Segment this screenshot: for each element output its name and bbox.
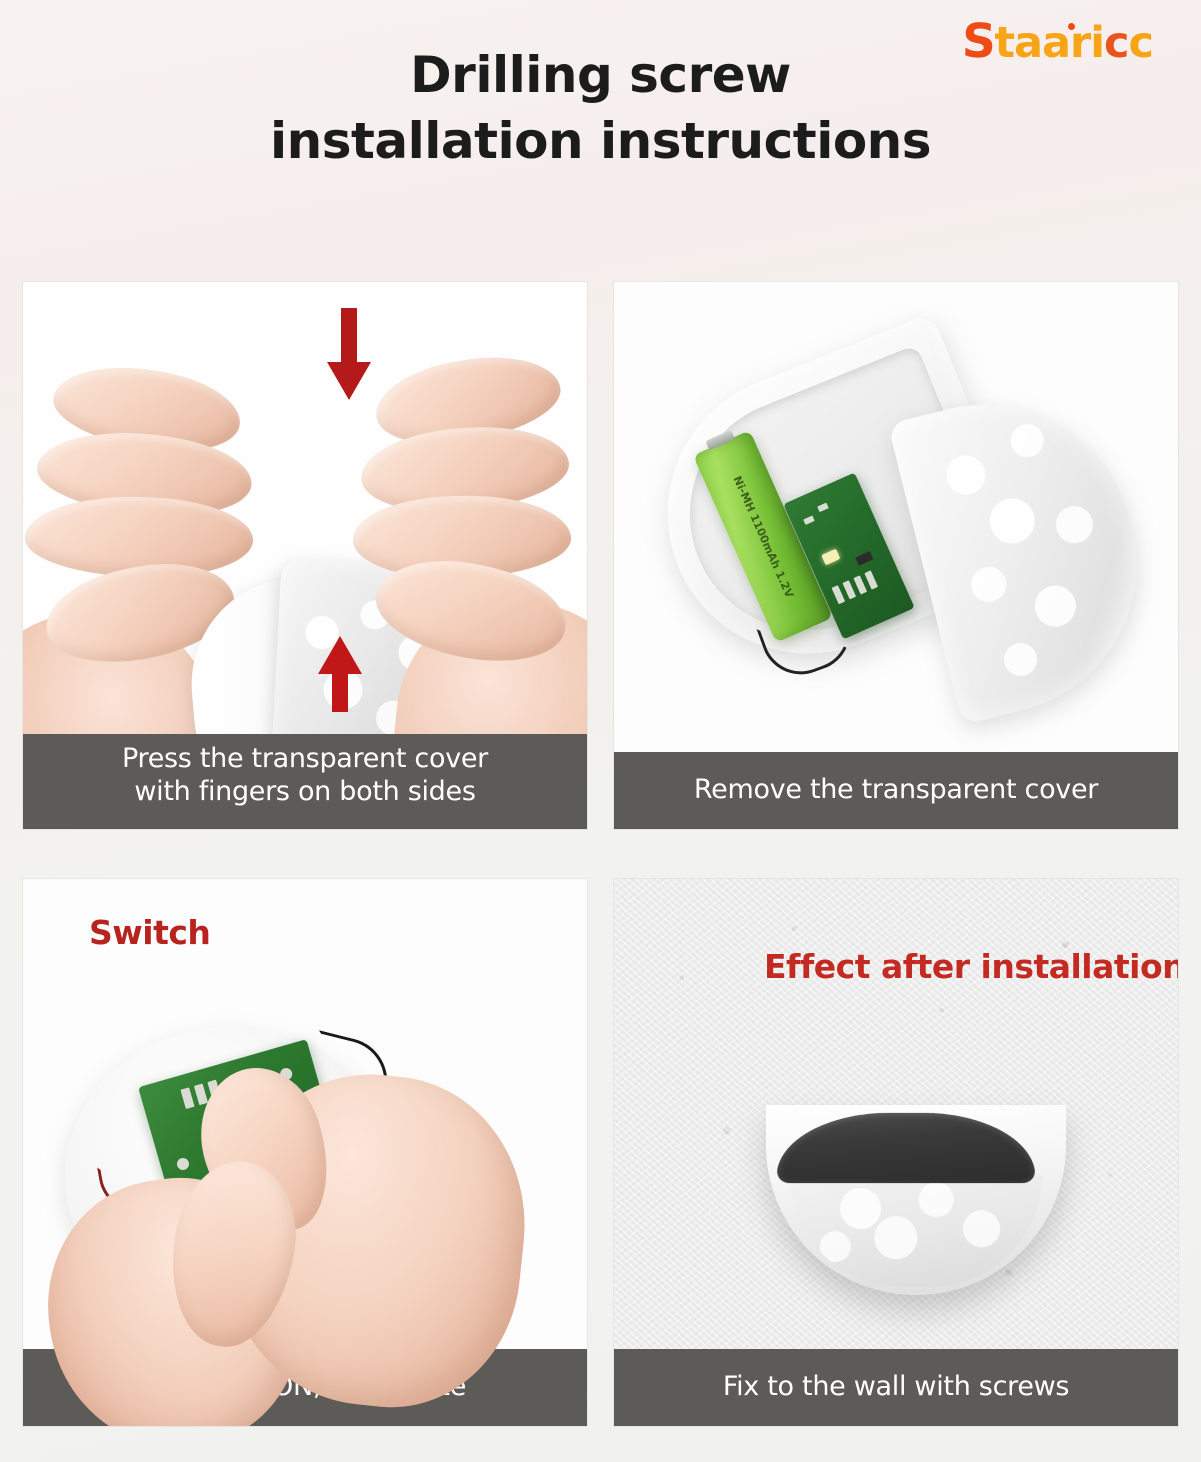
instruction-panel-grid: Press the transparent cover with fingers… <box>22 281 1179 1427</box>
brand-logo-dot-icon <box>1068 23 1075 30</box>
instruction-panel-3: Switch Toggle to ON, start <box>22 878 588 1427</box>
arrow-down-icon <box>322 308 376 402</box>
instruction-poster: Staaricc Drilling screw installation ins… <box>0 0 1201 1462</box>
poster-header: Staaricc Drilling screw installation ins… <box>0 0 1201 262</box>
installed-solar-wall-light <box>766 1105 1066 1295</box>
panel-2-caption-text: Remove the transparent cover <box>694 774 1098 807</box>
pcb-via <box>176 1157 191 1172</box>
panel-2-photo: Ni-MH 1100mAh 1.2V <box>614 282 1178 829</box>
instruction-panel-4: Effect after installation Fix to the wal… <box>613 878 1179 1427</box>
arrow-up-icon <box>313 634 367 714</box>
instruction-panel-1: Press the transparent cover with fingers… <box>22 281 588 830</box>
panel-2-caption: Remove the transparent cover <box>614 752 1178 830</box>
pcb-pad <box>842 580 856 599</box>
pcb-pad <box>853 575 867 594</box>
panel-1-caption: Press the transparent cover with fingers… <box>23 734 587 830</box>
switch-label: Switch <box>89 913 210 952</box>
effect-after-installation-label: Effect after installation <box>764 947 1178 986</box>
lamp-diffuser-lens <box>790 1175 1042 1287</box>
panel-3-photo: Switch <box>23 879 587 1426</box>
chip-component <box>855 551 873 566</box>
pcb-pad <box>817 503 829 513</box>
pcb-pad <box>194 1083 208 1105</box>
led-component <box>821 549 840 566</box>
pcb-pad <box>180 1087 194 1109</box>
panel-4-caption: Fix to the wall with screws <box>614 1349 1178 1427</box>
page-title: Drilling screw installation instructions <box>0 42 1201 174</box>
panel-1-caption-line-2: with fingers on both sides <box>35 776 575 809</box>
panel-4-caption-text: Fix to the wall with screws <box>723 1371 1069 1404</box>
panel-1-caption-line-1: Press the transparent cover <box>35 743 575 776</box>
page-title-line-2: installation instructions <box>150 108 1051 174</box>
pcb-pad <box>864 570 878 589</box>
page-title-line-1: Drilling screw <box>150 42 1051 108</box>
instruction-panel-2: Ni-MH 1100mAh 1.2V Remove the transparen… <box>613 281 1179 830</box>
panel-4-photo: Effect after installation <box>614 879 1178 1426</box>
pcb-pad <box>803 515 815 525</box>
